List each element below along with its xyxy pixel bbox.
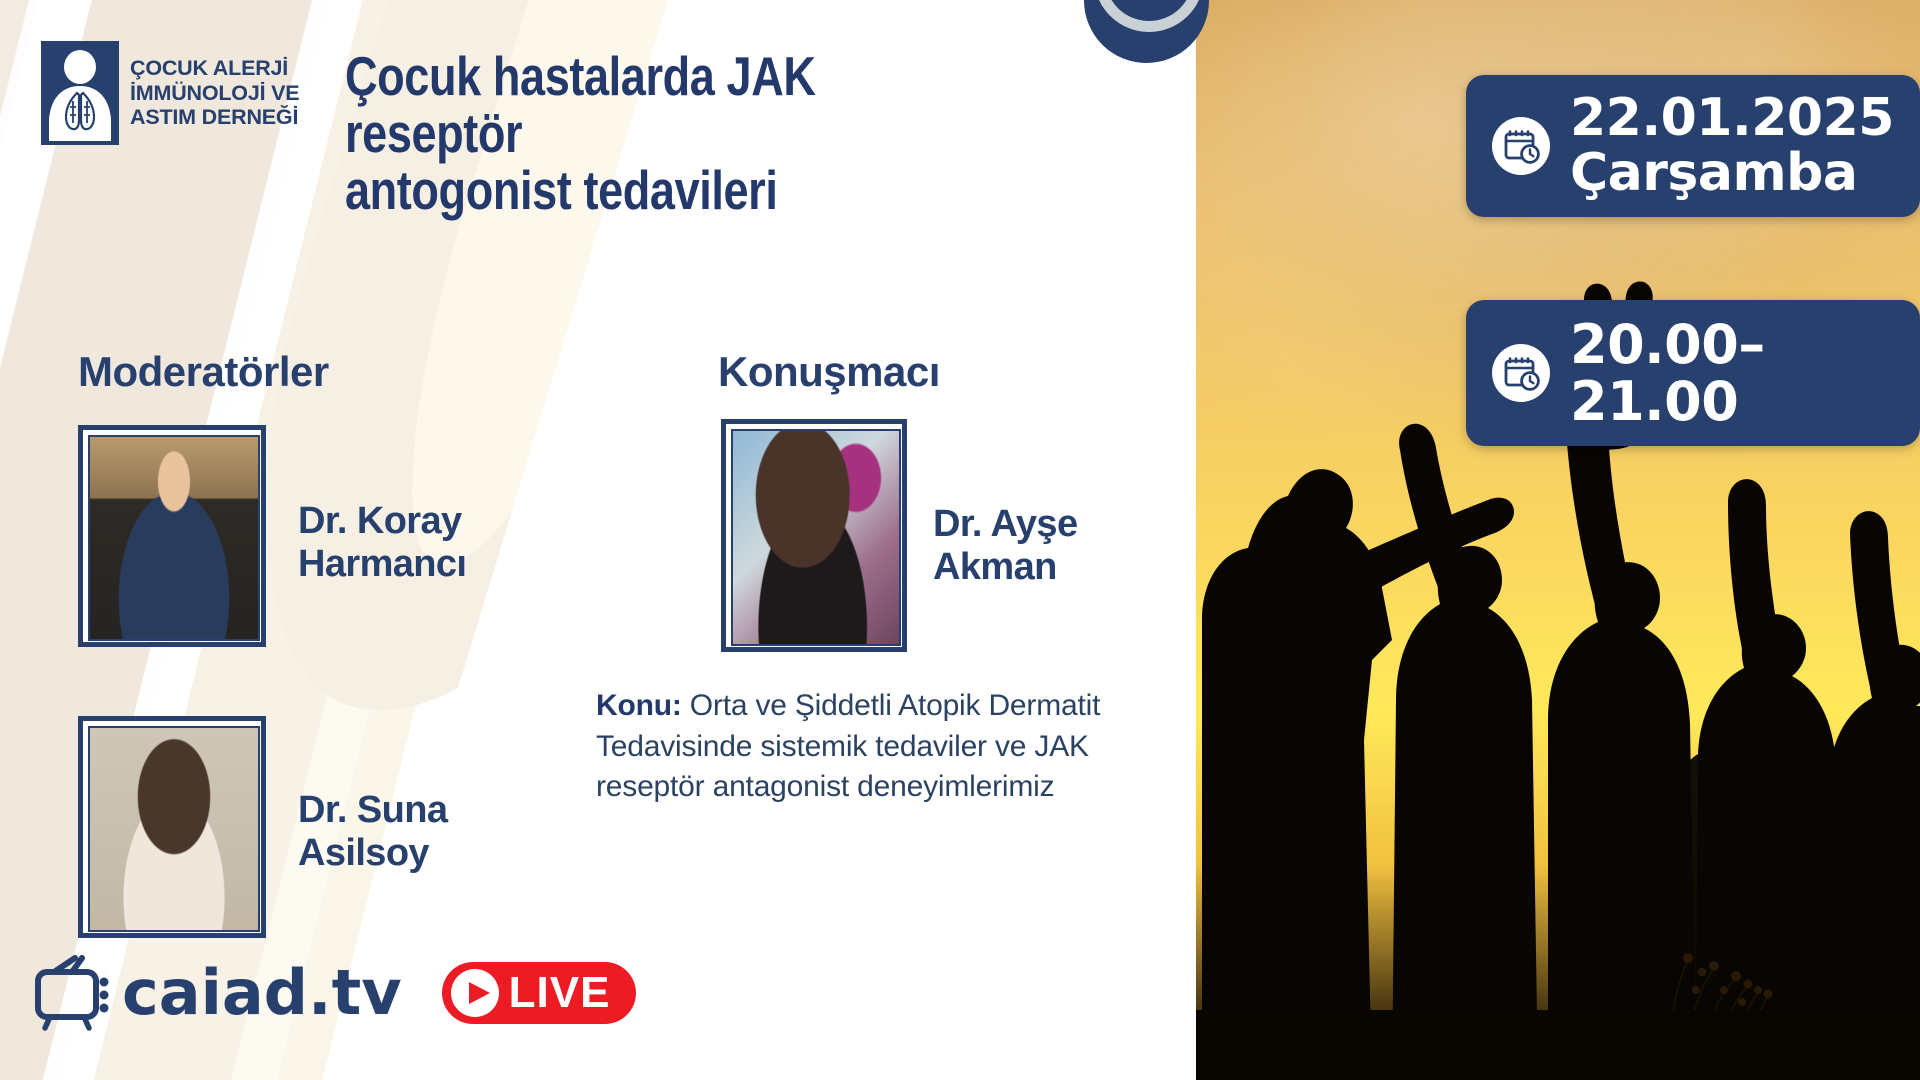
logo-line-3: ASTIM DERNEĞİ bbox=[130, 105, 299, 130]
logo-line-1: ÇOCUK ALERJİ bbox=[130, 56, 299, 81]
moderator-photo-2 bbox=[78, 716, 266, 938]
moderator-photo-1 bbox=[78, 425, 266, 647]
live-label: LIVE bbox=[509, 971, 611, 1015]
moderators-section-label: Moderatörler bbox=[78, 348, 329, 396]
webinar-poster: ÇOCUK ALERJİ İMMÜNOLOJİ VE ASTIM DERNEĞİ… bbox=[0, 0, 1920, 1080]
page-title: Çocuk hastalarda JAK reseptör antogonist… bbox=[345, 48, 1001, 220]
speaker-section-label: Konuşmacı bbox=[718, 348, 940, 396]
organization-logo-text: ÇOCUK ALERJİ İMMÜNOLOJİ VE ASTIM DERNEĞİ bbox=[130, 41, 299, 145]
site-name[interactable]: caiad.tv bbox=[122, 962, 402, 1024]
time-badge: 20.00–21.00 bbox=[1466, 300, 1920, 446]
topic-label: Konu: bbox=[596, 689, 682, 722]
brand-bar: caiad.tv LIVE bbox=[34, 955, 636, 1031]
moderator-name-1: Dr. Koray Harmancı bbox=[298, 500, 466, 585]
calendar-clock-icon bbox=[1492, 344, 1550, 402]
calendar-clock-icon bbox=[1492, 117, 1550, 175]
organization-logo: ÇOCUK ALERJİ İMMÜNOLOJİ VE ASTIM DERNEĞİ bbox=[41, 41, 299, 145]
play-circle-icon bbox=[451, 969, 499, 1017]
person-lungs-icon bbox=[41, 41, 119, 145]
speaker-topic: Konu: Orta ve Şiddetli Atopik Dermatit T… bbox=[596, 686, 1196, 808]
tv-icon bbox=[34, 955, 116, 1031]
date-text: 22.01.2025 Çarşamba bbox=[1570, 91, 1894, 201]
date-badge: 22.01.2025 Çarşamba bbox=[1466, 75, 1920, 217]
live-badge[interactable]: LIVE bbox=[442, 962, 637, 1024]
speaker-photo bbox=[721, 419, 907, 652]
moderator-name-2: Dr. Suna Asilsoy bbox=[298, 789, 447, 874]
time-text: 20.00–21.00 bbox=[1570, 316, 1894, 430]
logo-line-2: İMMÜNOLOJİ VE bbox=[130, 81, 299, 106]
speaker-name: Dr. Ayşe Akman bbox=[933, 503, 1077, 588]
poster-header: ÇOCUK ALERJİ İMMÜNOLOJİ VE ASTIM DERNEĞİ… bbox=[0, 0, 1196, 190]
